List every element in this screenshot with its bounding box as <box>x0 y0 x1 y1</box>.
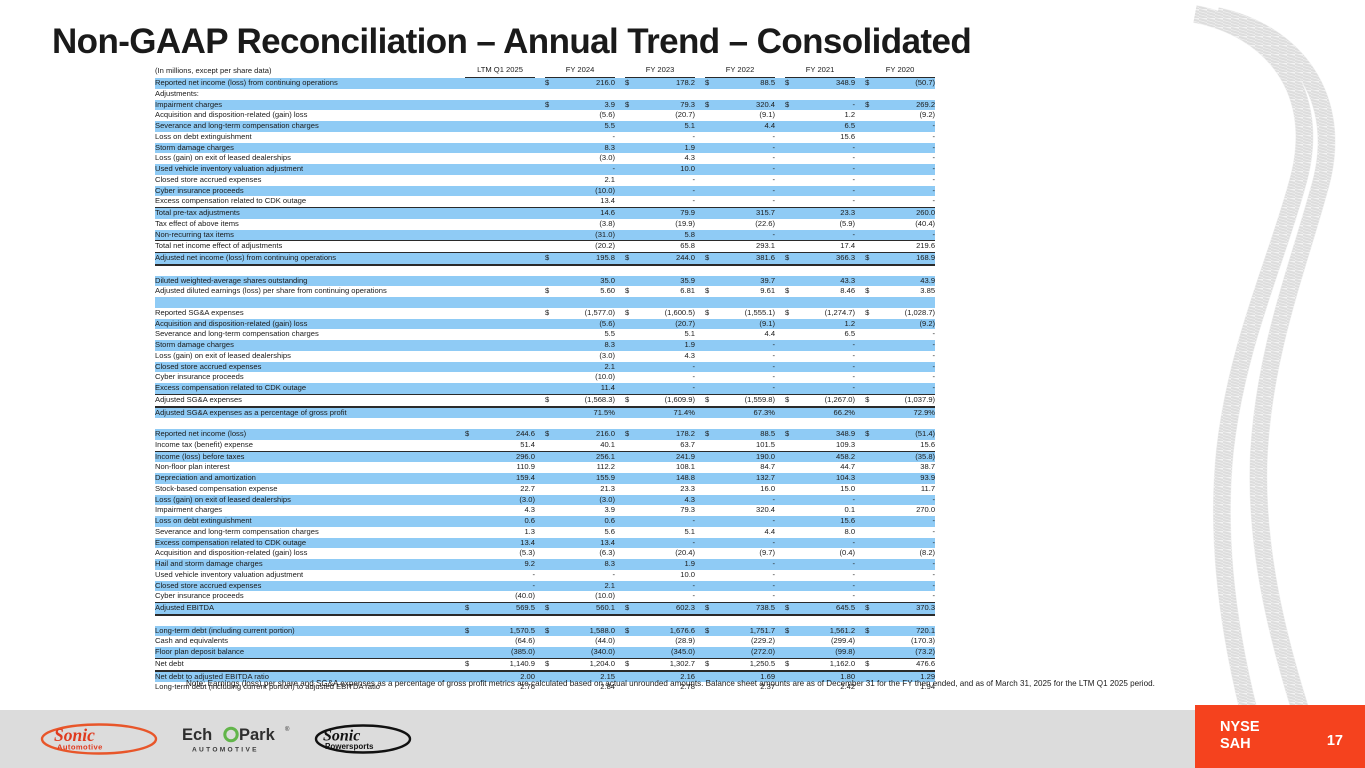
cell-gap <box>775 265 785 276</box>
cell-currency-symbol <box>705 208 717 219</box>
table-row: Closed store accrued expenses-2.1---- <box>155 581 935 592</box>
cell-currency-symbol <box>705 451 717 462</box>
cell-value <box>637 89 695 100</box>
cell-gap <box>695 132 705 143</box>
cell-currency-symbol <box>785 636 797 647</box>
cell-gap <box>775 407 785 419</box>
cell-currency-symbol <box>785 230 797 241</box>
cell-gap <box>855 175 865 186</box>
table-row: Long-term debt (including current portio… <box>155 626 935 637</box>
cell-value: - <box>717 362 775 373</box>
cell-gap <box>775 615 785 626</box>
cell-gap <box>535 319 545 330</box>
cell-currency-symbol <box>465 647 477 658</box>
row-label: Cyber insurance proceeds <box>155 372 465 383</box>
cell-currency-symbol <box>545 372 557 383</box>
cell-gap <box>615 297 625 308</box>
cell-gap <box>695 276 705 287</box>
cell-value: - <box>637 581 695 592</box>
cell-gap <box>535 527 545 538</box>
cell-value: 21.3 <box>557 484 615 495</box>
cell-value: - <box>797 559 855 570</box>
cell-currency-symbol <box>545 164 557 175</box>
cell-gap <box>695 636 705 647</box>
cell-value: - <box>877 516 935 527</box>
cell-gap <box>855 219 865 230</box>
cell-currency-symbol: $ <box>625 658 637 670</box>
cell-currency-symbol <box>625 451 637 462</box>
cell-value: 366.3 <box>797 253 855 265</box>
cell-value: 65.8 <box>637 241 695 253</box>
cell-currency-symbol <box>625 196 637 207</box>
cell-gap <box>855 351 865 362</box>
cell-value <box>477 340 535 351</box>
cell-currency-symbol <box>865 143 877 154</box>
cell-value: - <box>717 570 775 581</box>
cell-gap <box>695 548 705 559</box>
cell-value: (3.0) <box>557 351 615 362</box>
cell-value <box>477 615 535 626</box>
cell-gap <box>855 196 865 207</box>
cell-gap <box>775 110 785 121</box>
cell-currency-symbol <box>785 89 797 100</box>
cell-gap <box>695 559 705 570</box>
cell-gap <box>775 581 785 592</box>
cell-currency-symbol <box>865 230 877 241</box>
cell-value <box>877 615 935 626</box>
cell-gap <box>855 89 865 100</box>
cell-currency-symbol <box>865 407 877 419</box>
cell-currency-symbol <box>705 241 717 253</box>
cell-currency-symbol <box>865 297 877 308</box>
cell-currency-symbol: $ <box>545 78 557 89</box>
cell-currency-symbol: $ <box>785 100 797 111</box>
cell-value: 79.3 <box>637 505 695 516</box>
cell-gap <box>615 615 625 626</box>
cell-gap <box>695 89 705 100</box>
row-label: Cyber insurance proceeds <box>155 186 465 197</box>
cell-gap <box>535 132 545 143</box>
cell-gap <box>535 164 545 175</box>
cell-gap <box>535 329 545 340</box>
table-row <box>155 418 935 429</box>
cell-currency-symbol: $ <box>465 658 477 670</box>
cell-gap <box>695 462 705 473</box>
cell-value: (9.2) <box>877 319 935 330</box>
cell-gap <box>535 276 545 287</box>
cell-value: 5.8 <box>637 230 695 241</box>
cell-gap <box>535 591 545 602</box>
cell-gap <box>615 548 625 559</box>
cell-gap <box>775 495 785 506</box>
cell-value <box>557 418 615 429</box>
cell-currency-symbol <box>705 581 717 592</box>
tire-tracks-icon <box>1175 0 1365 712</box>
cell-gap <box>775 297 785 308</box>
cell-value: 66.2% <box>797 407 855 419</box>
cell-currency-symbol <box>705 297 717 308</box>
cell-gap <box>695 78 705 89</box>
nyse-ticker-badge: NYSE SAH 17 <box>1195 705 1365 768</box>
cell-gap <box>855 647 865 658</box>
cell-currency-symbol <box>785 196 797 207</box>
cell-value: - <box>717 153 775 164</box>
row-label: Excess compensation related to CDK outag… <box>155 196 465 207</box>
cell-gap <box>695 362 705 373</box>
row-label: Depreciation and amortization <box>155 473 465 484</box>
cell-currency-symbol <box>625 383 637 394</box>
cell-currency-symbol <box>465 383 477 394</box>
cell-gap <box>695 230 705 241</box>
cell-gap <box>775 383 785 394</box>
cell-currency-symbol <box>705 418 717 429</box>
cell-currency-symbol: $ <box>865 658 877 670</box>
cell-gap <box>855 451 865 462</box>
table-row: Total pre-tax adjustments14.679.9315.723… <box>155 208 935 219</box>
cell-gap <box>775 241 785 253</box>
cell-currency-symbol <box>625 351 637 362</box>
cell-gap <box>695 570 705 581</box>
cell-currency-symbol: $ <box>865 286 877 297</box>
cell-gap <box>695 615 705 626</box>
cell-value: 110.9 <box>477 462 535 473</box>
cell-currency-symbol <box>865 219 877 230</box>
cell-gap <box>775 340 785 351</box>
cell-value: 1,588.0 <box>557 626 615 637</box>
cell-gap <box>775 451 785 462</box>
cell-currency-symbol <box>785 164 797 175</box>
cell-currency-symbol <box>465 591 477 602</box>
cell-value <box>477 241 535 253</box>
cell-value: - <box>717 175 775 186</box>
cell-currency-symbol <box>465 362 477 373</box>
cell-currency-symbol <box>545 615 557 626</box>
row-label: Non-recurring tax items <box>155 230 465 241</box>
cell-currency-symbol <box>705 276 717 287</box>
cell-value: 1.2 <box>797 319 855 330</box>
cell-gap <box>695 394 705 406</box>
cell-gap <box>615 219 625 230</box>
cell-value <box>637 265 695 276</box>
row-label: Loss on debt extinguishment <box>155 516 465 527</box>
cell-gap <box>615 383 625 394</box>
cell-value: 2.1 <box>557 175 615 186</box>
cell-value: (99.8) <box>797 647 855 658</box>
cell-value: (9.1) <box>717 319 775 330</box>
cell-gap <box>615 559 625 570</box>
cell-currency-symbol: $ <box>625 78 637 89</box>
cell-value: - <box>877 143 935 154</box>
cell-gap <box>695 241 705 253</box>
cell-currency-symbol <box>625 230 637 241</box>
echopark-logo-icon: Ech Park ® AUTOMOTIVE <box>180 722 292 756</box>
row-label: Acquisition and disposition-related (gai… <box>155 548 465 559</box>
cell-value: - <box>797 383 855 394</box>
cell-gap <box>775 636 785 647</box>
cell-gap <box>855 636 865 647</box>
cell-gap <box>695 219 705 230</box>
row-label: Income tax (benefit) expense <box>155 440 465 451</box>
cell-currency-symbol <box>865 319 877 330</box>
cell-gap <box>615 329 625 340</box>
cell-gap <box>695 603 705 615</box>
cell-value: 40.1 <box>557 440 615 451</box>
cell-gap <box>855 570 865 581</box>
cell-gap <box>855 626 865 637</box>
cell-currency-symbol <box>705 319 717 330</box>
cell-currency-symbol <box>545 196 557 207</box>
cell-gap <box>695 319 705 330</box>
cell-gap <box>855 319 865 330</box>
cell-value: - <box>877 383 935 394</box>
cell-gap <box>695 208 705 219</box>
cell-value <box>637 615 695 626</box>
cell-gap <box>855 253 865 265</box>
row-label: Net debt <box>155 658 465 670</box>
cell-value: 132.7 <box>717 473 775 484</box>
cell-value: 6.5 <box>797 329 855 340</box>
row-label: Closed store accrued expenses <box>155 581 465 592</box>
nyse-ticker-lines: NYSE SAH <box>1220 719 1260 752</box>
table-row: Net debt$1,140.9$1,204.0$1,302.7$1,250.5… <box>155 658 935 670</box>
cell-currency-symbol <box>705 516 717 527</box>
cell-currency-symbol: $ <box>545 658 557 670</box>
cell-value: 71.4% <box>637 407 695 419</box>
cell-currency-symbol <box>865 451 877 462</box>
cell-value: 5.1 <box>637 527 695 538</box>
cell-currency-symbol <box>705 329 717 340</box>
cell-currency-symbol <box>465 100 477 111</box>
cell-currency-symbol <box>785 121 797 132</box>
cell-value: 63.7 <box>637 440 695 451</box>
cell-currency-symbol <box>545 527 557 538</box>
cell-value: - <box>877 121 935 132</box>
table-row: Used vehicle inventory valuation adjustm… <box>155 570 935 581</box>
cell-value: - <box>797 100 855 111</box>
cell-value: 320.4 <box>717 100 775 111</box>
cell-currency-symbol: $ <box>465 603 477 615</box>
cell-currency-symbol: $ <box>545 626 557 637</box>
cell-currency-symbol <box>545 516 557 527</box>
cell-value: - <box>717 372 775 383</box>
table-row: Non-recurring tax items(31.0)5.8--- <box>155 230 935 241</box>
cell-gap <box>615 647 625 658</box>
cell-gap <box>775 473 785 484</box>
cell-value <box>477 394 535 406</box>
cell-gap <box>695 647 705 658</box>
cell-gap <box>855 383 865 394</box>
cell-value: 1.3 <box>477 527 535 538</box>
cell-currency-symbol <box>865 615 877 626</box>
echopark-automotive-logo: Ech Park ® AUTOMOTIVE <box>180 722 292 756</box>
cell-gap <box>775 548 785 559</box>
cell-gap <box>535 351 545 362</box>
cell-value: 260.0 <box>877 208 935 219</box>
cell-currency-symbol <box>625 548 637 559</box>
table-row: Used vehicle inventory valuation adjustm… <box>155 164 935 175</box>
cell-value <box>477 175 535 186</box>
cell-gap <box>695 143 705 154</box>
cell-gap <box>615 473 625 484</box>
row-label: Tax effect of above items <box>155 219 465 230</box>
cell-gap <box>775 78 785 89</box>
cell-currency-symbol <box>865 591 877 602</box>
cell-currency-symbol <box>785 548 797 559</box>
cell-currency-symbol <box>545 297 557 308</box>
cell-gap <box>615 394 625 406</box>
cell-currency-symbol <box>465 329 477 340</box>
row-label: Stock-based compensation expense <box>155 484 465 495</box>
cell-value <box>797 265 855 276</box>
cell-gap <box>615 581 625 592</box>
cell-currency-symbol <box>705 351 717 362</box>
cell-currency-symbol <box>465 121 477 132</box>
cell-currency-symbol <box>545 110 557 121</box>
cell-currency-symbol <box>625 340 637 351</box>
cell-gap <box>535 78 545 89</box>
cell-currency-symbol <box>705 484 717 495</box>
sonic-automotive-secondary-text: Automotive <box>57 743 103 752</box>
cell-gap <box>775 372 785 383</box>
table-row: Severance and long-term compensation cha… <box>155 527 935 538</box>
cell-value: 35.0 <box>557 276 615 287</box>
cell-currency-symbol <box>785 329 797 340</box>
cell-gap <box>695 440 705 451</box>
cell-currency-symbol: $ <box>865 603 877 615</box>
cell-gap <box>615 110 625 121</box>
cell-gap <box>695 473 705 484</box>
cell-value: 79.3 <box>637 100 695 111</box>
cell-value: (3.8) <box>557 219 615 230</box>
cell-currency-symbol <box>545 418 557 429</box>
reconciliation-table: (In millions, except per share data) LTM… <box>155 63 935 693</box>
cell-currency-symbol <box>785 527 797 538</box>
cell-currency-symbol <box>465 186 477 197</box>
column-header-fy-2022: FY 2022 <box>705 63 775 78</box>
cell-value: 51.4 <box>477 440 535 451</box>
cell-value: 108.1 <box>637 462 695 473</box>
cell-currency-symbol: $ <box>545 394 557 406</box>
cell-value: 1.9 <box>637 143 695 154</box>
cell-currency-symbol <box>625 559 637 570</box>
cell-value: 4.3 <box>477 505 535 516</box>
cell-gap <box>615 196 625 207</box>
cell-gap <box>695 372 705 383</box>
cell-currency-symbol <box>705 196 717 207</box>
cell-currency-symbol <box>465 78 477 89</box>
cell-currency-symbol: $ <box>785 308 797 319</box>
cell-gap <box>535 394 545 406</box>
cell-gap <box>615 407 625 419</box>
cell-currency-symbol <box>625 241 637 253</box>
cell-currency-symbol: $ <box>625 394 637 406</box>
cell-currency-symbol <box>785 153 797 164</box>
cell-value: 1,302.7 <box>637 658 695 670</box>
cell-currency-symbol <box>865 132 877 143</box>
cell-value: - <box>557 164 615 175</box>
cell-gap <box>535 208 545 219</box>
row-label: Cash and equivalents <box>155 636 465 647</box>
cell-value: (299.4) <box>797 636 855 647</box>
cell-currency-symbol <box>625 110 637 121</box>
cell-currency-symbol <box>625 319 637 330</box>
cell-value: - <box>717 581 775 592</box>
cell-gap <box>535 372 545 383</box>
cell-value: - <box>637 196 695 207</box>
cell-value: 602.3 <box>637 603 695 615</box>
cell-currency-symbol <box>545 89 557 100</box>
row-label: Excess compensation related to CDK outag… <box>155 538 465 549</box>
table-row: Cash and equivalents(64.6)(44.0)(28.9)(2… <box>155 636 935 647</box>
cell-value: 381.6 <box>717 253 775 265</box>
cell-gap <box>535 440 545 451</box>
cell-value: - <box>877 230 935 241</box>
table-row: Diluted weighted-average shares outstand… <box>155 276 935 287</box>
cell-value: - <box>877 340 935 351</box>
cell-value: 15.6 <box>877 440 935 451</box>
cell-value <box>477 418 535 429</box>
table-row: Reported net income (loss) from continui… <box>155 78 935 89</box>
cell-value: 6.5 <box>797 121 855 132</box>
cell-value: 1,561.2 <box>797 626 855 637</box>
logo-group: Sonic Automotive Ech Park ® AUTOMOTIVE S… <box>40 722 412 756</box>
cell-gap <box>775 230 785 241</box>
cell-gap <box>855 418 865 429</box>
cell-value: 178.2 <box>637 429 695 440</box>
cell-gap <box>695 429 705 440</box>
cell-currency-symbol <box>865 516 877 527</box>
cell-value <box>477 383 535 394</box>
cell-gap <box>615 591 625 602</box>
cell-gap <box>615 626 625 637</box>
cell-gap <box>855 132 865 143</box>
row-label: Diluted weighted-average shares outstand… <box>155 276 465 287</box>
cell-value: (1,600.5) <box>637 308 695 319</box>
cell-value: 6.81 <box>637 286 695 297</box>
cell-currency-symbol <box>625 591 637 602</box>
row-label: Storm damage charges <box>155 143 465 154</box>
cell-value: 1,204.0 <box>557 658 615 670</box>
cell-gap <box>775 186 785 197</box>
cell-currency-symbol: $ <box>705 78 717 89</box>
cell-value: (44.0) <box>557 636 615 647</box>
cell-gap <box>775 559 785 570</box>
cell-currency-symbol <box>545 591 557 602</box>
cell-value: - <box>877 329 935 340</box>
cell-currency-symbol <box>625 153 637 164</box>
cell-gap <box>775 132 785 143</box>
cell-value: 11.7 <box>877 484 935 495</box>
cell-currency-symbol <box>465 276 477 287</box>
cell-currency-symbol <box>785 110 797 121</box>
cell-currency-symbol <box>705 164 717 175</box>
cell-gap <box>775 100 785 111</box>
cell-currency-symbol <box>705 615 717 626</box>
cell-currency-symbol <box>625 473 637 484</box>
cell-currency-symbol <box>865 329 877 340</box>
cell-value <box>717 265 775 276</box>
cell-value: - <box>477 570 535 581</box>
cell-value <box>557 89 615 100</box>
table-row: Loss (gain) on exit of leased dealership… <box>155 495 935 506</box>
table-row: Tax effect of above items(3.8)(19.9)(22.… <box>155 219 935 230</box>
cell-gap <box>615 505 625 516</box>
table-row: Loss (gain) on exit of leased dealership… <box>155 351 935 362</box>
cell-value: 195.8 <box>557 253 615 265</box>
cell-gap <box>695 286 705 297</box>
table-row: Hail and storm damage charges9.28.31.9--… <box>155 559 935 570</box>
cell-gap <box>855 362 865 373</box>
